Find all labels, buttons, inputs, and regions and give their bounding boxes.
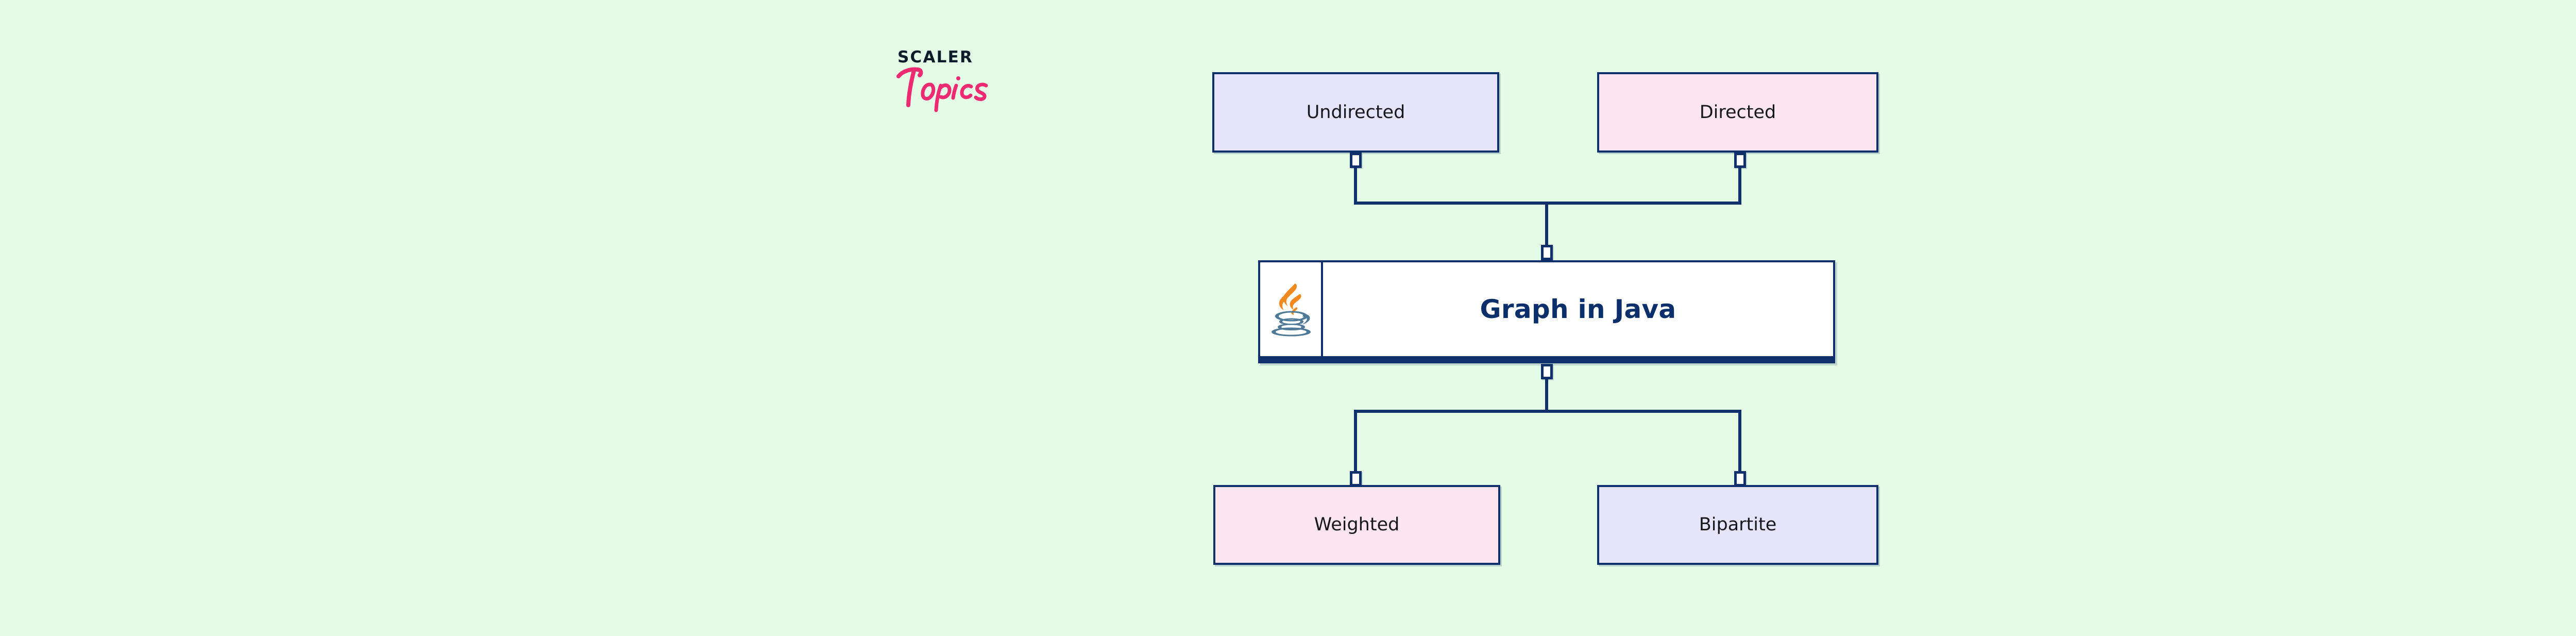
connector-tab-bipartite <box>1734 471 1746 487</box>
node-weighted-label: Weighted <box>1314 516 1400 534</box>
connector-tab-directed <box>1734 153 1746 168</box>
node-directed-label: Directed <box>1700 104 1776 122</box>
connector-tab-weighted <box>1350 471 1362 487</box>
connector-tab-center-top <box>1541 245 1553 260</box>
node-directed[interactable]: Directed <box>1597 72 1878 153</box>
connector-tab-center-bottom <box>1541 364 1553 379</box>
node-bipartite-label: Bipartite <box>1699 516 1777 534</box>
logo-topics-wordmark-icon <box>895 63 1029 112</box>
center-title-cell: Graph in Java <box>1323 262 1833 356</box>
java-icon-cell <box>1260 262 1323 356</box>
center-title-text: Graph in Java <box>1480 296 1676 322</box>
node-undirected[interactable]: Undirected <box>1212 72 1499 153</box>
node-bipartite[interactable]: Bipartite <box>1597 485 1878 565</box>
node-undirected-label: Undirected <box>1307 104 1405 122</box>
connector-tab-undirected <box>1350 153 1362 168</box>
node-graph-in-java[interactable]: Graph in Java <box>1258 260 1835 363</box>
diagram-canvas: SCALER Undirected <box>0 0 2576 636</box>
java-logo-icon <box>1267 280 1314 338</box>
node-weighted[interactable]: Weighted <box>1213 485 1500 565</box>
scaler-topics-logo: SCALER <box>897 49 1052 127</box>
connector-bottom-horizontal <box>1354 410 1741 413</box>
